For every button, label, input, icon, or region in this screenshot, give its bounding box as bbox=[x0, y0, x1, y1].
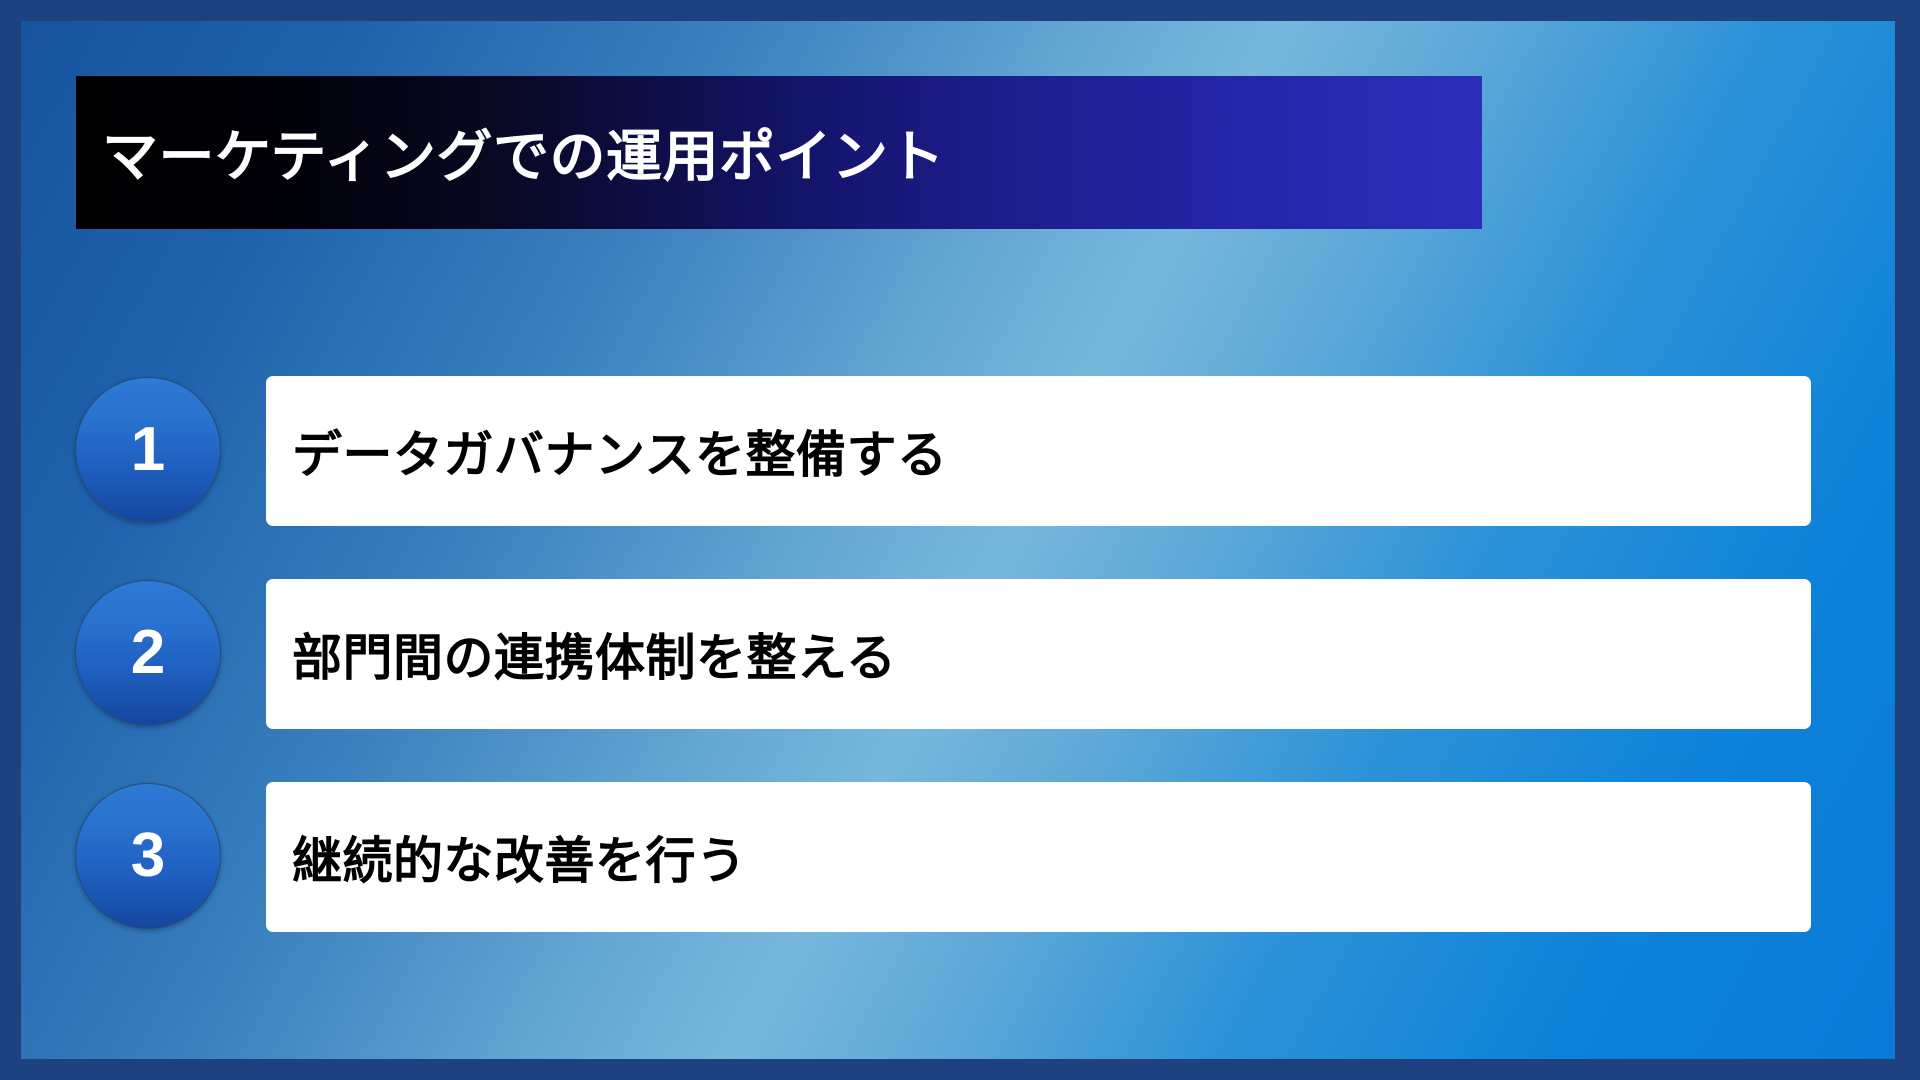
step-number-badge-1: 1 bbox=[75, 377, 221, 523]
slide-background: マーケティングでの運用ポイント 1 データガバナンスを整備する 2 部門間の連携… bbox=[21, 21, 1895, 1059]
slide-canvas: マーケティングでの運用ポイント 1 データガバナンスを整備する 2 部門間の連携… bbox=[0, 0, 1920, 1080]
step-label-3: 継続的な改善を行う bbox=[266, 821, 747, 893]
step-number-badge-3: 3 bbox=[75, 783, 221, 929]
step-number-badge-2: 2 bbox=[75, 580, 221, 726]
step-number-3: 3 bbox=[131, 825, 165, 887]
step-card-2[interactable]: 部門間の連携体制を整える bbox=[266, 579, 1811, 729]
step-card-1[interactable]: データガバナンスを整備する bbox=[266, 376, 1811, 526]
list-item: 1 データガバナンスを整備する bbox=[21, 376, 1895, 526]
step-number-2: 2 bbox=[131, 622, 165, 684]
step-card-3[interactable]: 継続的な改善を行う bbox=[266, 782, 1811, 932]
page-title: マーケティングでの運用ポイント bbox=[76, 112, 945, 193]
list-item: 2 部門間の連携体制を整える bbox=[21, 579, 1895, 729]
step-label-2: 部門間の連携体制を整える bbox=[266, 618, 897, 690]
step-label-1: データガバナンスを整備する bbox=[266, 415, 948, 487]
slide-title-bar: マーケティングでの運用ポイント bbox=[76, 76, 1482, 229]
step-number-1: 1 bbox=[131, 419, 165, 481]
list-item: 3 継続的な改善を行う bbox=[21, 782, 1895, 932]
